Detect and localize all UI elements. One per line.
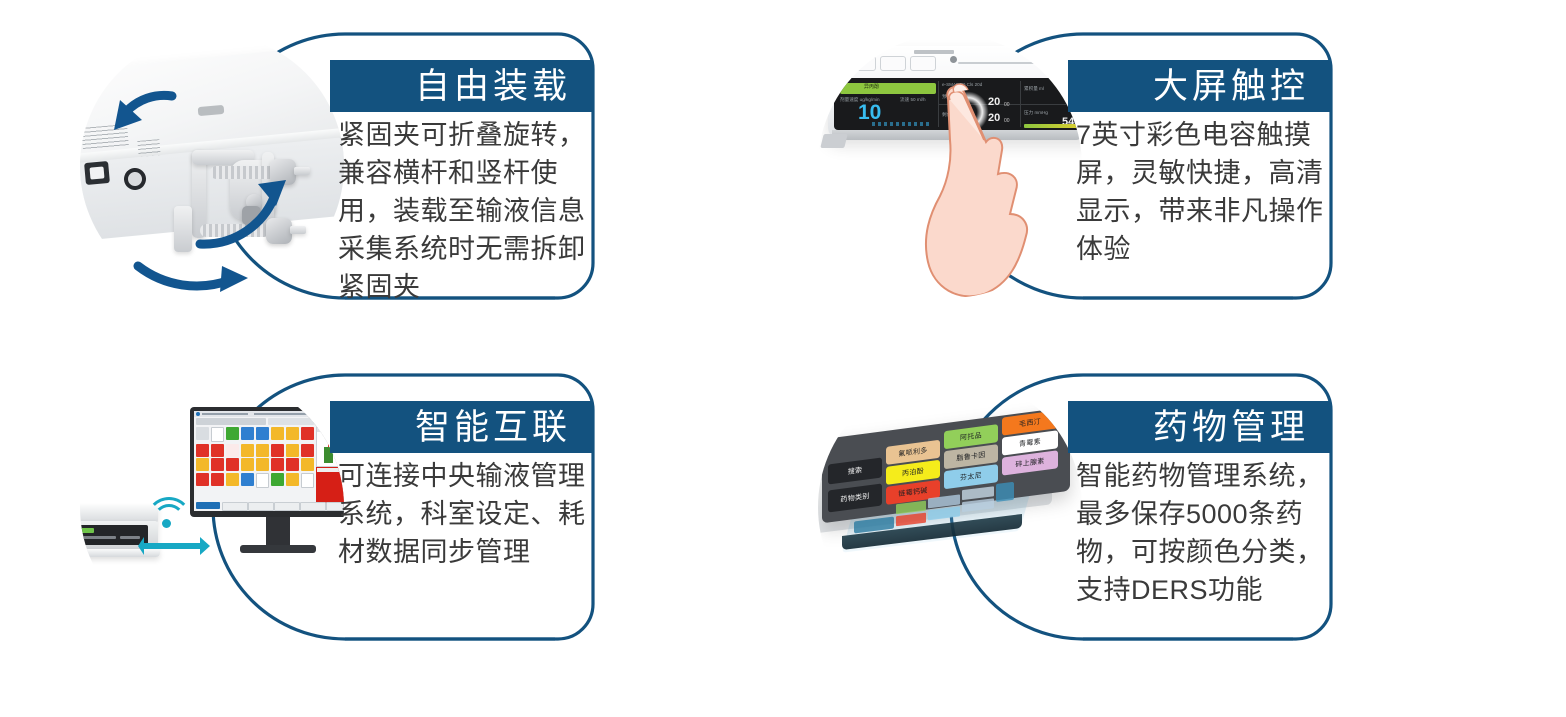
feature-grid: 自由装载 紧固夹可折叠旋转，兼容横杆和竖杆使用，装载至输液信息采集系统时无需拆卸… <box>0 0 1566 717</box>
card1-photo <box>80 34 344 298</box>
hand-pointing-icon <box>914 74 1054 298</box>
card3-title: 智能互联 <box>415 410 571 445</box>
drug-button: 搜索 <box>828 457 882 484</box>
card1-title-bar: 自由装载 <box>330 60 593 112</box>
feature-card-large-touchscreen: 异丙酚 剂量速度 ug/kg/min 流速 50 ml/h 10 e-SMART… <box>798 14 1358 314</box>
card2-description: 7英寸彩色电容触摸屏，灵敏快捷，高清显示，带来非凡操作体验 <box>1076 116 1324 268</box>
card2-title: 大屏触控 <box>1153 69 1309 104</box>
card4-title-bar: 药物管理 <box>1068 401 1331 453</box>
card2-title-bar: 大屏触控 <box>1068 60 1331 112</box>
sync-arrow-icon <box>138 533 212 559</box>
wifi-icon <box>144 493 192 537</box>
card4-title: 药物管理 <box>1153 410 1309 445</box>
rotation-arrow-icon <box>80 34 344 298</box>
card4-photo: 搜索 药物类别 氟哌利多 丙泊酚 链霉钙碱 阿托品 脂鲁卡因 芬太尼 毛西汀 青… <box>818 375 1082 639</box>
card1-title: 自由装载 <box>415 69 571 104</box>
feature-card-drug-management: 搜索 药物类别 氟哌利多 丙泊酚 链霉钙碱 阿托品 脂鲁卡因 芬太尼 毛西汀 青… <box>798 355 1358 655</box>
feature-card-smart-connectivity: 智能互联 可连接中央输液管理系统，科室设定、耗材数据同步管理 <box>60 355 620 655</box>
card2-photo: 异丙酚 剂量速度 ug/kg/min 流速 50 ml/h 10 e-SMART… <box>818 34 1082 298</box>
card4-description: 智能药物管理系统，最多保存5000条药物，可按颜色分类，支持DERS功能 <box>1076 457 1324 609</box>
card3-photo <box>80 375 344 639</box>
card3-title-bar: 智能互联 <box>330 401 593 453</box>
feature-card-free-loading: 自由装载 紧固夹可折叠旋转，兼容横杆和竖杆使用，装载至输液信息采集系统时无需拆卸… <box>60 14 620 314</box>
card1-description: 紧固夹可折叠旋转，兼容横杆和竖杆使用，装载至输液信息采集系统时无需拆卸紧固夹 <box>338 116 586 306</box>
card3-description: 可连接中央输液管理系统，科室设定、耗材数据同步管理 <box>338 457 586 571</box>
